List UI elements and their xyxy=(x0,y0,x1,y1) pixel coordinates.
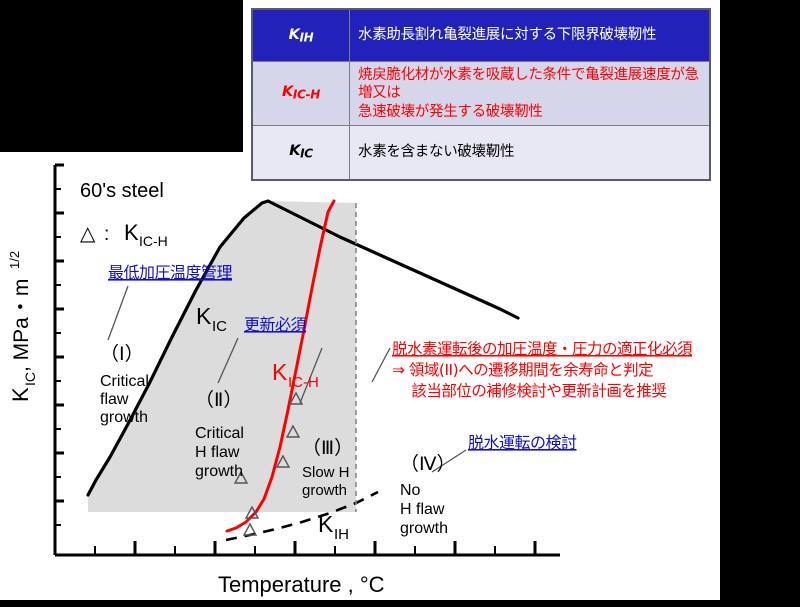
red-note-line-1: ⇒ 領域(II)への遷移期間を余寿命と判定 xyxy=(392,360,653,379)
red-note-line-2: 該当部位の補修検討や更新計画を推奨 xyxy=(392,382,666,400)
curve-label-kih-base: K xyxy=(318,511,334,537)
marker-legend-symbol: △ xyxy=(80,223,96,245)
region-III-line-0: Slow H xyxy=(302,464,350,481)
description-cell-kih: 水素助長割れ亀裂進展に対する下限界破壊靭性 xyxy=(350,9,711,62)
curve-label-kic-sub: IC xyxy=(212,318,227,335)
region-I-line-0: Critical xyxy=(100,373,149,390)
region-IV-numeral: （Ⅳ） xyxy=(400,453,456,475)
leader-min-temp xyxy=(108,286,128,340)
region-II-line-0: Critical xyxy=(195,425,244,442)
curve-label-kich-base: K xyxy=(272,359,288,385)
symbol-subscript: IC xyxy=(300,147,313,161)
marker-legend-sub: IC-H xyxy=(139,233,168,249)
region-III: （Ⅲ） Slow H growth xyxy=(302,437,353,499)
symbol-cell-kih: KIH xyxy=(252,9,350,62)
curve-label-kic-base: K xyxy=(196,303,212,329)
region-I-numeral: （Ⅰ） xyxy=(100,343,144,365)
region-II-numeral: （Ⅱ） xyxy=(195,389,242,411)
region-IV-line-2: growth xyxy=(400,520,448,537)
marker-legend-sep: : xyxy=(104,224,109,245)
curve-label-kih: K IH xyxy=(318,511,349,543)
table-row: KIC-H 焼戻脆化材が水素を吸蔵した条件で亀裂進展速度が急増又は 急速破壊が発… xyxy=(252,62,710,126)
symbol-subscript: IC-H xyxy=(293,88,320,102)
x-axis-title: Temperature , °C xyxy=(218,572,385,597)
table-row: KIC 水素を含まない破壊靭性 xyxy=(252,125,710,180)
y-axis-title-exponent: 1/2 xyxy=(7,251,22,269)
symbol-base: K xyxy=(289,27,300,43)
symbol-base: K xyxy=(282,84,293,100)
region-IV-line-1: H flaw xyxy=(400,501,445,518)
y-axis-title-sub: IC xyxy=(22,372,38,386)
region-II: （Ⅱ） Critical H flaw growth xyxy=(195,389,244,480)
y-axis-title: K IC , MPa・m 1/2 xyxy=(7,251,38,402)
marker-legend: △ : K IC-H xyxy=(80,220,168,249)
description-cell-kich: 焼戻脆化材が水素を吸蔵した条件で亀裂進展速度が急増又は 急速破壊が発生する破壊靭… xyxy=(350,62,711,126)
symbol-cell-kic: KIC xyxy=(252,125,350,180)
curve-label-kih-sub: IH xyxy=(334,526,349,543)
symbol-subscript: IH xyxy=(300,30,314,44)
region-III-line-1: growth xyxy=(302,482,347,499)
red-note-line-0: 脱水素運転後の加圧温度・圧力の適正化必須 xyxy=(392,340,693,358)
region-I-line-2: growth xyxy=(100,409,148,426)
callout-dehydration-study: 脱水運転の検討 xyxy=(468,433,577,452)
fracture-toughness-chart: 60's steel △ : K IC-H K IC K IC-H K IH xyxy=(0,152,720,600)
definition-table: KIH 水素助長割れ亀裂進展に対する下限界破壊靭性 KIC-H 焼戻脆化材が水素… xyxy=(251,8,711,181)
curve-label-kich-sub: IC-H xyxy=(288,374,319,391)
region-I-line-1: flaw xyxy=(100,391,129,408)
region-IV: （Ⅳ） No H flaw growth xyxy=(400,453,456,537)
y-axis-title-base: K xyxy=(8,387,33,402)
leader-red-note xyxy=(372,348,390,382)
chart-panel: 60's steel △ : K IC-H K IC K IC-H K IH xyxy=(0,152,720,600)
callout-min-pressurize-temp: 最低加圧温度管理 xyxy=(108,263,233,282)
region-I: （Ⅰ） Critical flaw growth xyxy=(100,343,149,426)
y-axis-title-units: , MPa・m xyxy=(10,279,33,372)
x-axis-ticks xyxy=(95,541,535,555)
region-III-numeral: （Ⅲ） xyxy=(302,437,353,459)
marker-legend-base: K xyxy=(124,220,139,245)
symbol-base: K xyxy=(289,143,300,159)
region-II-line-1: H flaw xyxy=(195,444,240,461)
callout-renewal-required: 更新必須 xyxy=(244,315,307,334)
region-II-line-2: growth xyxy=(195,463,243,480)
symbol-cell-kich: KIC-H xyxy=(252,62,350,126)
definition-table-panel: KIH 水素助長割れ亀裂進展に対する下限界破壊靭性 KIC-H 焼戻脆化材が水素… xyxy=(243,0,720,190)
callout-post-dehydrogenation-note: 脱水素運転後の加圧温度・圧力の適正化必須 ⇒ 領域(II)への遷移期間を余寿命と… xyxy=(392,340,693,400)
region-IV-line-0: No xyxy=(400,482,421,499)
description-cell-kic: 水素を含まない破壊靭性 xyxy=(350,125,711,180)
material-label: 60's steel xyxy=(80,180,164,202)
table-row: KIH 水素助長割れ亀裂進展に対する下限界破壊靭性 xyxy=(252,9,710,62)
screenshot-root: 60's steel △ : K IC-H K IC K IC-H K IH xyxy=(0,0,800,607)
